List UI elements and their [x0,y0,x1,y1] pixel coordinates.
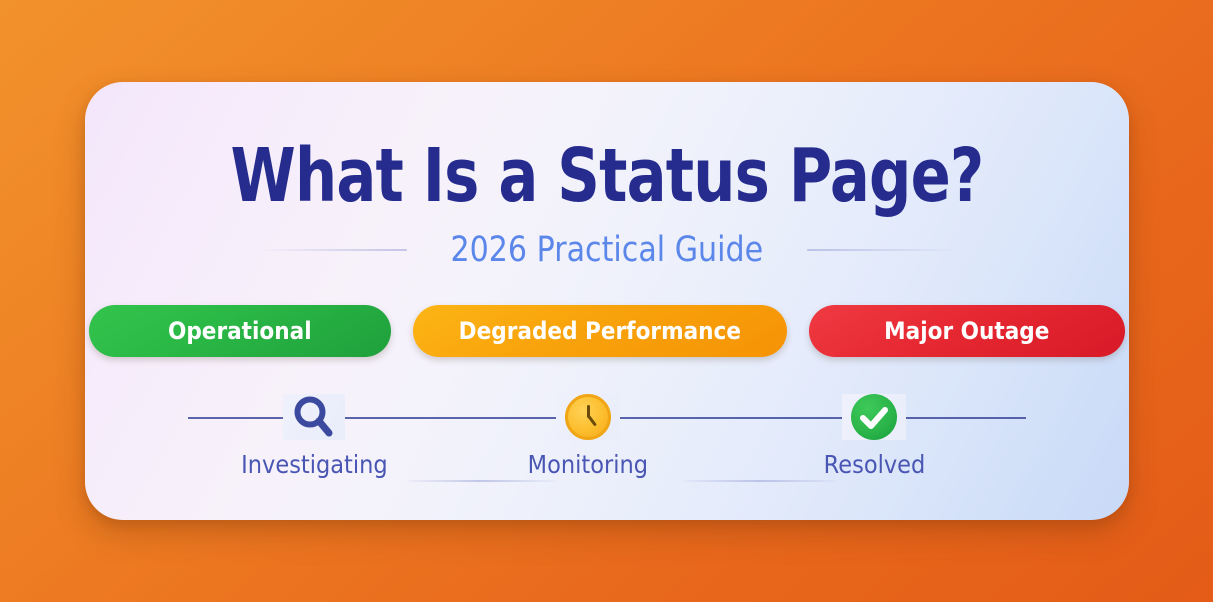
incident-timeline: Investigating Monitoring [188,392,1026,497]
timeline-step-resolved[interactable]: Resolved [799,392,949,479]
check-circle-icon [842,394,906,440]
check-circle-icon-face [851,394,897,440]
subtitle-rule-right [807,249,959,251]
poster-canvas: What Is a Status Page? 2026 Practical Gu… [0,0,1213,602]
clock-icon-face [565,394,611,440]
timeline-step-monitoring[interactable]: Monitoring [513,392,663,479]
status-page-card: What Is a Status Page? 2026 Practical Gu… [85,82,1129,520]
timeline-step-monitoring-label: Monitoring [528,450,648,479]
timeline-step-investigating-label: Investigating [241,450,388,479]
status-badge-degraded-performance-label: Degraded Performance [459,317,741,345]
clock-icon [556,394,620,440]
status-badge-major-outage[interactable]: Major Outage [809,305,1125,357]
status-badge-group: Operational Degraded Performance Major O… [85,305,1129,357]
page-subtitle: 2026 Practical Guide [451,230,764,270]
timeline-step-resolved-icon-wrap [842,390,906,444]
timeline-step-resolved-label: Resolved [823,450,925,479]
subtitle-row: 2026 Practical Guide [85,230,1129,270]
timeline-step-monitoring-icon-wrap [556,390,620,444]
magnifier-icon [283,394,345,440]
timeline-step-investigating-icon-wrap [283,390,345,444]
timeline-label-connector-1 [408,480,556,482]
status-badge-major-outage-label: Major Outage [884,317,1049,345]
status-badge-operational[interactable]: Operational [89,305,391,357]
timeline-step-investigating[interactable]: Investigating [239,392,389,479]
status-badge-operational-label: Operational [168,317,312,345]
subtitle-rule-left [255,249,407,251]
timeline-label-connector-2 [684,480,836,482]
page-title: What Is a Status Page? [189,134,1024,218]
status-badge-degraded-performance[interactable]: Degraded Performance [413,305,787,357]
clock-hour-hand [587,415,597,426]
